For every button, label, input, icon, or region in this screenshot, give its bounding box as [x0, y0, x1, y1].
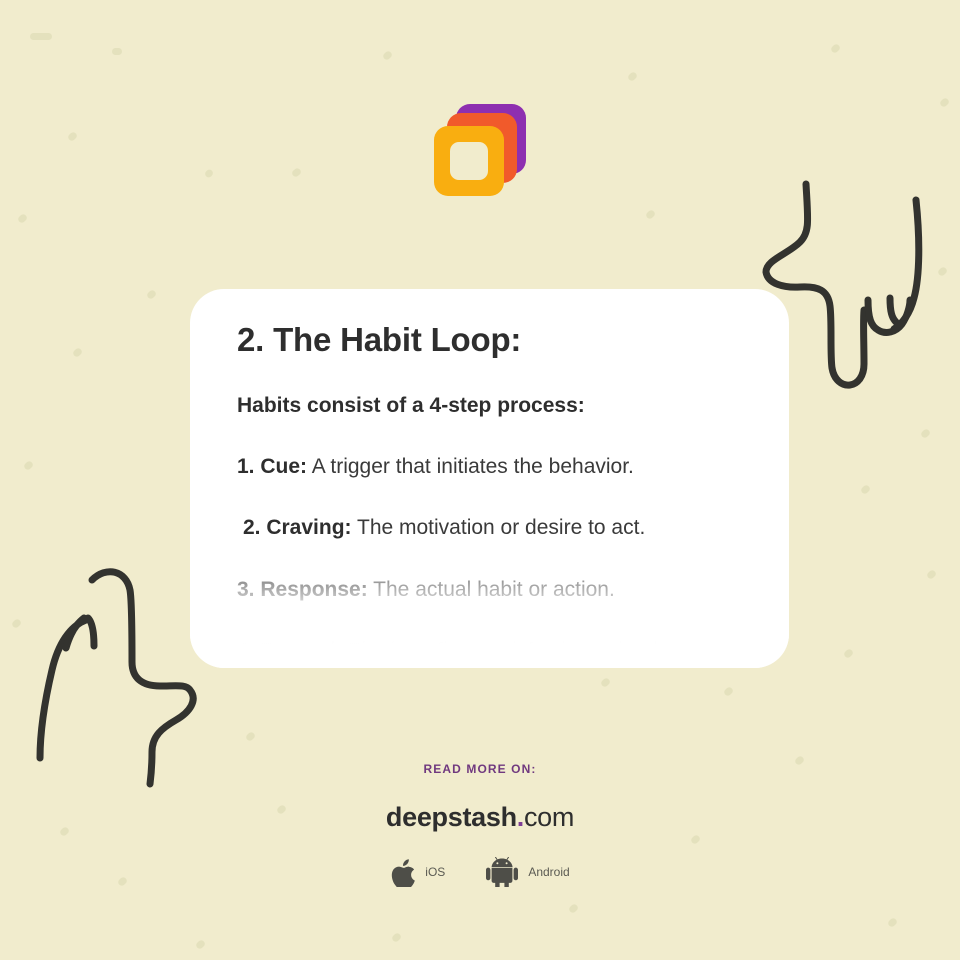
store-label-android: Android [528, 865, 569, 879]
brand-wordmark[interactable]: deepstash.com [0, 802, 960, 833]
habit-steps-list: 1. Cue: A trigger that initiates the beh… [237, 454, 749, 664]
habit-step-text: The motivation or desire to act. [352, 516, 646, 539]
confetti-speck [146, 289, 157, 300]
brand-logo [0, 100, 960, 200]
confetti-speck [382, 50, 393, 61]
habit-step-3: 3. Response: The actual habit or action. [237, 577, 749, 603]
confetti-speck [72, 347, 83, 358]
habit-step-label: 3. Response: [237, 578, 368, 601]
store-badges: iOS Android [0, 857, 960, 887]
logo-square-hole [450, 142, 488, 180]
card-subtitle: Habits consist of a 4-step process: [237, 393, 749, 418]
confetti-speck [627, 71, 638, 82]
habit-step-2: 2. Craving: The motivation or desire to … [237, 515, 749, 541]
brand-tld: com [524, 802, 574, 832]
habit-step-4: 4. Reward: The benefit or satisfaction g… [237, 638, 749, 664]
confetti-speck [600, 677, 611, 688]
confetti-speck [860, 484, 871, 495]
content-card: 2. The Habit Loop: Habits consist of a 4… [190, 289, 789, 668]
confetti-speck [920, 428, 931, 439]
android-icon [485, 857, 519, 887]
store-badge-android[interactable]: Android [485, 857, 569, 887]
read-more-label: READ MORE ON: [0, 762, 960, 776]
confetti-speck [195, 939, 206, 950]
habit-step-label: 4. Reward: [237, 639, 343, 662]
store-badge-ios[interactable]: iOS [390, 857, 445, 887]
habit-step-text: A trigger that initiates the behavior. [307, 455, 634, 478]
confetti-speck [391, 932, 402, 943]
store-label-ios: iOS [425, 865, 445, 879]
confetti-speck [568, 903, 579, 914]
confetti-speck [830, 43, 841, 54]
brand-dot: . [517, 802, 524, 832]
deepstash-logo-icon [434, 104, 526, 196]
confetti-speck [112, 48, 122, 55]
habit-step-label: 1. Cue: [237, 455, 307, 478]
confetti-speck [937, 266, 948, 277]
confetti-speck [23, 460, 34, 471]
card-content: 2. The Habit Loop: Habits consist of a 4… [190, 289, 789, 668]
poster-canvas: 2. The Habit Loop: Habits consist of a 4… [0, 0, 960, 960]
confetti-speck [887, 917, 898, 928]
confetti-speck [245, 731, 256, 742]
confetti-speck [645, 209, 656, 220]
confetti-speck [843, 648, 854, 659]
footer: READ MORE ON: deepstash.com iOS Andr [0, 762, 960, 887]
confetti-speck [11, 618, 22, 629]
habit-step-1: 1. Cue: A trigger that initiates the beh… [237, 454, 749, 480]
brand-name: deepstash [386, 802, 517, 832]
habit-step-text: The actual habit or action. [368, 578, 615, 601]
apple-icon [390, 857, 416, 887]
confetti-speck [723, 686, 734, 697]
habit-step-text: The benefit or satisfaction gained [343, 639, 658, 662]
habit-step-label: 2. Craving: [243, 516, 352, 539]
confetti-speck [30, 33, 52, 40]
card-title: 2. The Habit Loop: [237, 321, 749, 359]
confetti-speck [17, 213, 28, 224]
confetti-speck [926, 569, 937, 580]
